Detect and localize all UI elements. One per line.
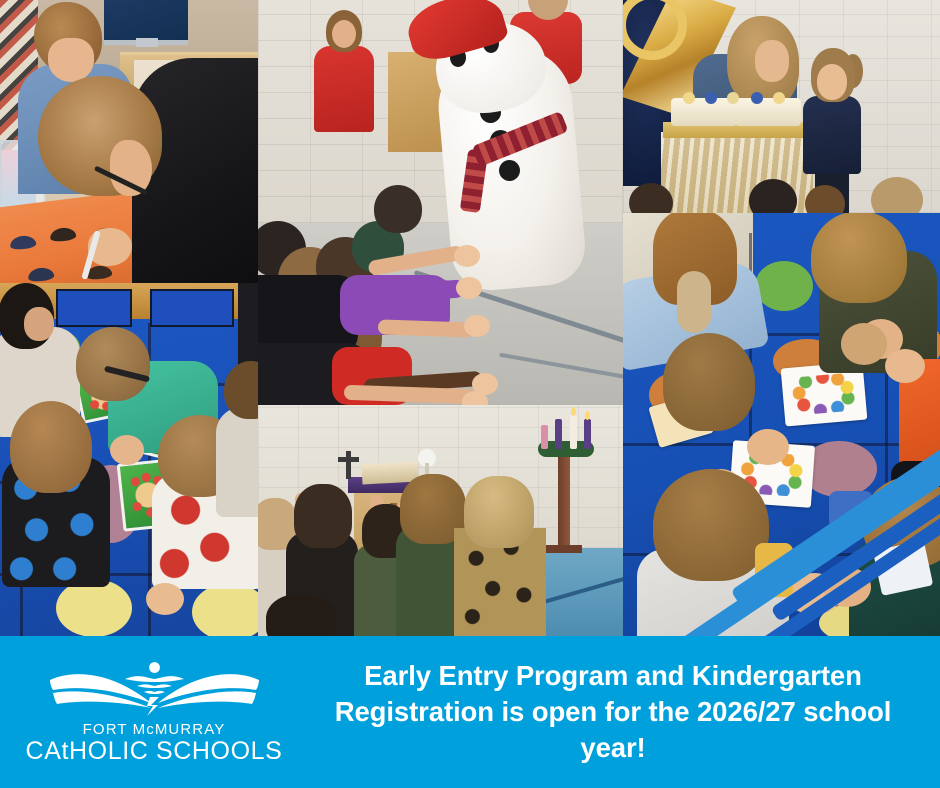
photo-top-center xyxy=(258,0,623,405)
candle-flame xyxy=(571,407,576,416)
colour-path-ring xyxy=(791,372,856,415)
head xyxy=(663,333,755,431)
hand xyxy=(464,315,490,337)
head xyxy=(294,484,352,548)
cake-decoration xyxy=(683,92,695,104)
head xyxy=(811,213,907,303)
logo-line-1: FORT McMURRAY xyxy=(26,722,283,737)
logo-wordmark: FORT McMURRAY CAtHOLIC SCHOOLS xyxy=(26,722,283,764)
registration-poster: FORT McMURRAY CAtHOLIC SCHOOLS Early Ent… xyxy=(0,0,940,788)
face xyxy=(817,64,847,100)
logo-line-2: CAtHOLIC SCHOOLS xyxy=(26,739,283,764)
open-book-with-figure-logo-icon xyxy=(47,660,262,720)
congregant xyxy=(454,476,546,636)
photo-bottom-center xyxy=(258,405,623,636)
body xyxy=(216,407,258,517)
head xyxy=(653,469,769,581)
photo-collage xyxy=(0,0,940,636)
photo-bottom-right xyxy=(623,213,940,636)
head-with-wavy-hair xyxy=(10,401,92,493)
carpet-dot-green xyxy=(755,261,813,311)
photo-bottom-left xyxy=(0,283,258,636)
cake-decoration xyxy=(751,92,763,104)
head xyxy=(266,594,336,636)
hand xyxy=(747,429,789,465)
student-in-red-shirt xyxy=(314,10,374,140)
giraffe-leg xyxy=(677,271,711,333)
advent-candle-purple xyxy=(584,419,591,449)
hand xyxy=(456,277,482,299)
boot xyxy=(841,323,887,365)
student-blue-shirt-face xyxy=(48,38,94,82)
photo-top-left xyxy=(0,0,258,283)
mascot-button xyxy=(499,160,520,181)
photo-top-right xyxy=(623,0,940,213)
cake-tier xyxy=(735,98,801,126)
foreground-audience xyxy=(623,179,940,213)
head xyxy=(76,327,150,401)
standing-cross xyxy=(346,451,351,479)
face xyxy=(332,20,356,48)
student-head xyxy=(374,185,422,233)
hand xyxy=(885,349,925,383)
monitor-stand xyxy=(136,38,158,47)
blue-cabinet-panel xyxy=(56,289,132,327)
advent-candle-purple xyxy=(555,419,562,449)
congregation xyxy=(258,476,623,636)
school-logo: FORT McMURRAY CAtHOLIC SCHOOLS xyxy=(0,660,300,764)
congregant-foreground xyxy=(266,588,336,636)
advent-candle-pink xyxy=(541,425,548,449)
hand xyxy=(454,245,480,267)
cake-decoration xyxy=(773,92,785,104)
headline-line-1: Early Entry Program and Kindergarten xyxy=(364,660,862,691)
cake-decoration xyxy=(705,92,717,104)
carpet-dot-yellow xyxy=(192,583,258,636)
banner-headline: Early Entry Program and Kindergarten Reg… xyxy=(300,658,940,767)
headline-line-2: Registration is open for the 2026/27 sch… xyxy=(300,694,926,767)
candle-flame xyxy=(585,411,590,420)
blonde-hair xyxy=(464,476,534,548)
row-of-seated-students xyxy=(258,125,498,405)
red-shirt xyxy=(314,46,374,132)
hand xyxy=(110,435,144,465)
hand xyxy=(146,583,184,615)
audience-head xyxy=(805,185,845,213)
audience-head xyxy=(871,177,923,213)
navy-dress xyxy=(803,96,861,174)
announcement-banner: FORT McMURRAY CAtHOLIC SCHOOLS Early Ent… xyxy=(0,636,940,788)
face xyxy=(24,307,54,341)
audience-head xyxy=(749,179,797,213)
blue-cabinet-panel xyxy=(150,289,234,327)
cake-tier xyxy=(671,98,737,126)
advent-candle-white xyxy=(570,415,577,449)
carpet-dot-yellow xyxy=(56,579,132,636)
cake-decoration xyxy=(727,92,739,104)
face xyxy=(755,40,789,82)
audience-head xyxy=(629,183,673,213)
